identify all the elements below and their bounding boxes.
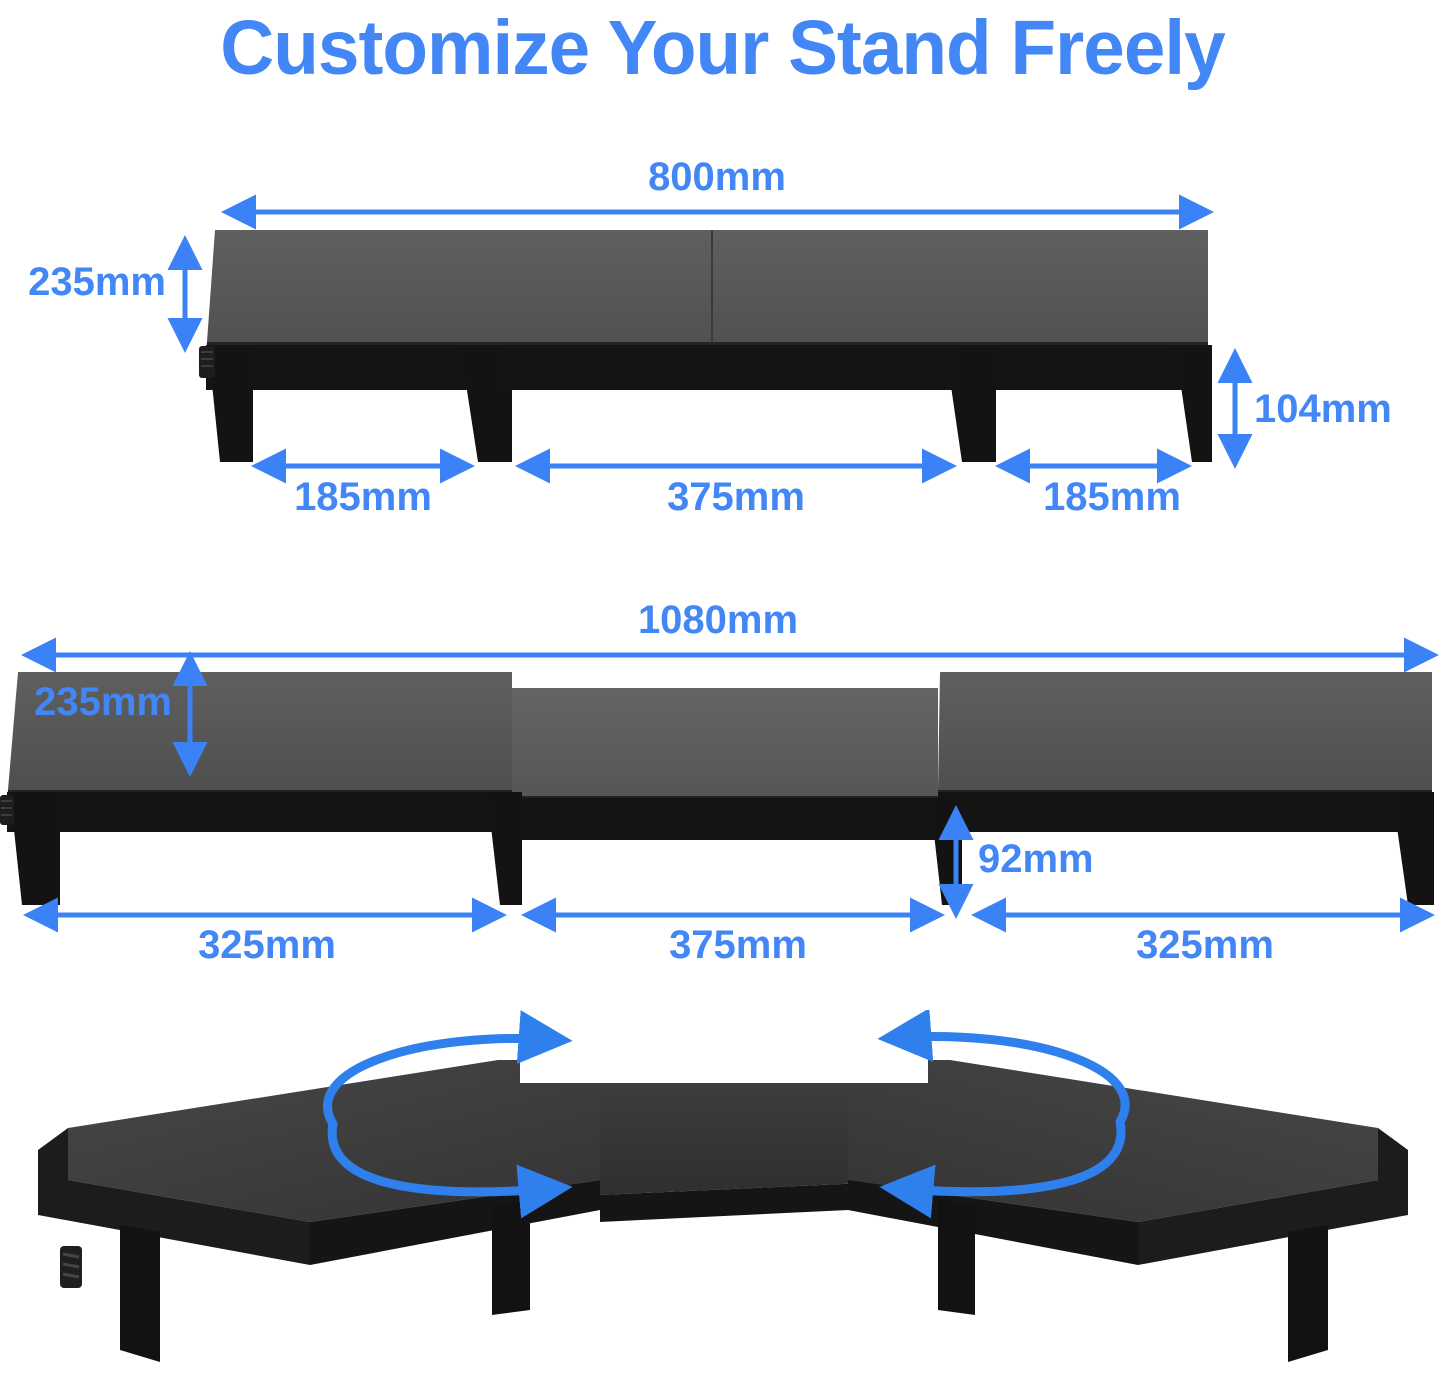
dimension-label-step-height: 92mm <box>978 837 1094 881</box>
dimension-left-span-185: 185mm <box>258 466 468 519</box>
leg-inner-1 <box>487 792 522 905</box>
right-frame-apron <box>938 792 1434 832</box>
dimension-label-left-span: 325mm <box>198 923 336 967</box>
leg-inner-left <box>492 1200 530 1315</box>
clamp-knob-icon <box>60 1246 82 1288</box>
diagram-extended-configuration: 1080mm 235mm 92mm 325mm 375mm <box>0 600 1445 980</box>
dimension-middle-span-375: 375mm <box>528 915 938 967</box>
leg-inner-right <box>938 1200 975 1315</box>
leg-left-outer <box>120 1225 160 1362</box>
leg-right-outer <box>1392 792 1434 905</box>
dimension-label-depth: 235mm <box>34 680 172 724</box>
dimension-label-right-span: 185mm <box>1043 475 1181 519</box>
middle-frame-apron <box>505 798 960 840</box>
dimension-label-left-span: 185mm <box>294 475 432 519</box>
page-title: Customize Your Stand Freely <box>22 2 1424 94</box>
middle-crossbar <box>500 345 960 385</box>
right-panel-surface <box>938 672 1432 790</box>
leg-right-outer <box>1175 345 1212 462</box>
clamp-knob-icon <box>0 795 14 825</box>
dimension-depth-235: 235mm <box>28 242 185 346</box>
dimension-height-104: 104mm <box>1235 355 1392 462</box>
dimension-left-span-325: 325mm <box>30 915 500 967</box>
dimension-label-height: 104mm <box>1254 387 1392 431</box>
dimension-label-right-span: 325mm <box>1136 923 1274 967</box>
stand-body-extended <box>0 672 1434 905</box>
stand-body-straight <box>199 230 1212 462</box>
dimension-label-total-width: 800mm <box>648 155 786 199</box>
clamp-knob-icon <box>199 346 215 378</box>
diagram-rotating-configuration <box>0 1010 1445 1375</box>
leg-right-outer <box>1288 1225 1328 1362</box>
diagram-straight-configuration: 800mm 235mm 104mm 185mm 375mm <box>0 150 1445 530</box>
dimension-label-depth: 235mm <box>28 260 166 304</box>
product-dimension-infographic: Customize Your Stand Freely <box>0 0 1445 1375</box>
dimension-total-width-800: 800mm <box>228 155 1207 212</box>
dimension-right-span-185: 185mm <box>1002 466 1185 519</box>
dimension-label-middle-span: 375mm <box>669 923 807 967</box>
dimension-right-span-325: 325mm <box>978 915 1428 967</box>
dimension-middle-span-375: 375mm <box>522 466 950 519</box>
stand-body-perspective <box>38 1060 1408 1362</box>
dimension-label-middle-span: 375mm <box>667 475 805 519</box>
left-frame-apron <box>7 792 520 832</box>
dimension-total-width-1080: 1080mm <box>28 600 1432 655</box>
leg-left-outer <box>10 792 60 905</box>
top-surface-panel <box>207 230 1208 342</box>
dimension-label-total-width: 1080mm <box>638 600 798 642</box>
middle-panel-surface <box>512 688 938 796</box>
